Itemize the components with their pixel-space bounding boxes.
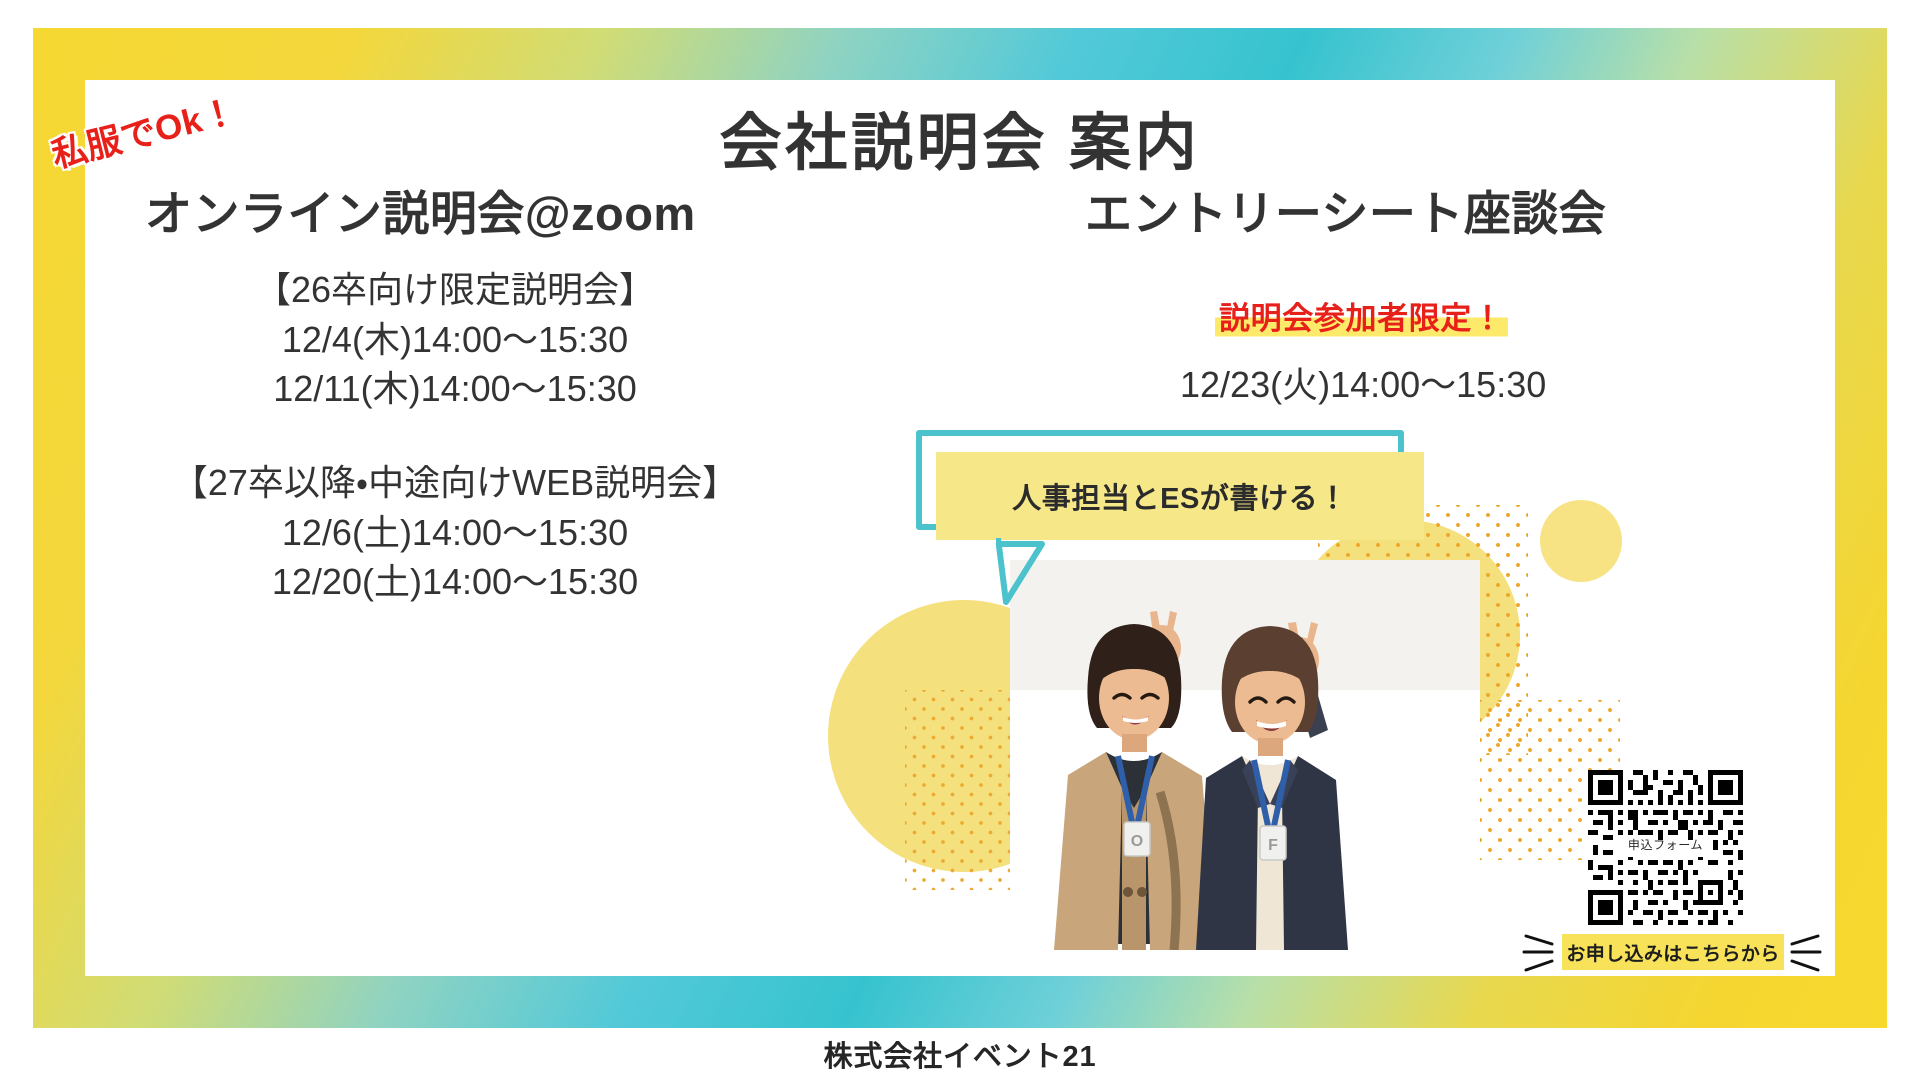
svg-text:O: O bbox=[1131, 833, 1143, 850]
schedule-group1-date-2: 12/11(木)14:00〜15:30 bbox=[115, 364, 795, 414]
company-name: 株式会社イベント21 bbox=[824, 1033, 1097, 1075]
roundtable-date: 12/23(火)14:00〜15:30 bbox=[1180, 356, 1546, 408]
left-column-heading: オンライン説明会@zoom bbox=[145, 175, 696, 244]
qr-code-label: 申込フォーム bbox=[1588, 836, 1743, 853]
staff-photo: O bbox=[1010, 560, 1480, 950]
svg-text:F: F bbox=[1268, 837, 1278, 854]
apply-here-band[interactable]: お申し込みはこちらから bbox=[1562, 934, 1784, 970]
schedule-group1-date-1: 12/4(木)14:00〜15:30 bbox=[115, 315, 795, 365]
schedule-group1-title: 【26卒向け限定説明会】 bbox=[115, 265, 795, 315]
decor-circle-yellow-small bbox=[1540, 500, 1622, 582]
speech-bubble-text: 人事担当とESが書ける！ bbox=[936, 452, 1424, 540]
apply-here-label: お申し込みはこちらから bbox=[1566, 939, 1779, 966]
limited-attendees-badge: 説明会参加者限定！ bbox=[1215, 293, 1508, 338]
schedule-group2-date-1: 12/6(土)14:00〜15:30 bbox=[115, 508, 795, 558]
speech-bubble: 人事担当とESが書ける！ bbox=[916, 430, 1426, 570]
flyer-root: 私服でOk！ 会社説明会 案内 オンライン説明会@zoom エントリーシート座談… bbox=[0, 0, 1920, 1080]
left-schedule-block: 【26卒向け限定説明会】 12/4(木)14:00〜15:30 12/11(木)… bbox=[115, 265, 795, 607]
right-column-heading: エントリーシート座談会 bbox=[1085, 175, 1606, 244]
page-title: 会社説明会 案内 bbox=[0, 92, 1920, 182]
schedule-group2-date-2: 12/20(土)14:00〜15:30 bbox=[115, 557, 795, 607]
schedule-spacer bbox=[115, 414, 795, 458]
apply-here-banner[interactable]: お申し込みはこちらから bbox=[1522, 930, 1822, 978]
schedule-group2-title: 【27卒以降・中途向けWEB説明会】 bbox=[115, 458, 795, 508]
footer: 株式会社イベント21 bbox=[0, 1028, 1920, 1080]
